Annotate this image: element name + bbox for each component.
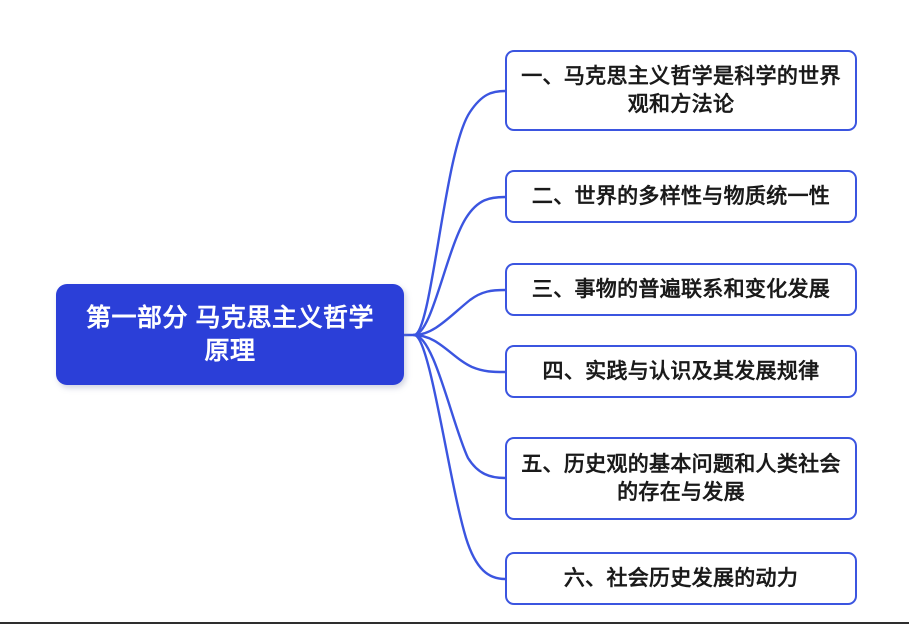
- connector-branch-2: [414, 197, 505, 335]
- mindmap-canvas: 第一部分 马克思主义哲学原理 一、马克思主义哲学是科学的世界观和方法论 二、世界…: [0, 0, 909, 630]
- child-node-6[interactable]: 六、社会历史发展的动力: [505, 552, 857, 605]
- child-node-4-label: 四、实践与认识及其发展规律: [529, 358, 834, 386]
- connector-branch-1: [414, 91, 505, 335]
- connector-branch-3: [414, 290, 505, 335]
- connector-branch-5: [414, 335, 505, 478]
- child-node-3[interactable]: 三、事物的普遍联系和变化发展: [505, 263, 857, 316]
- child-node-2[interactable]: 二、世界的多样性与物质统一性: [505, 170, 857, 223]
- child-node-5[interactable]: 五、历史观的基本问题和人类社会的存在与发展: [505, 437, 857, 520]
- child-node-4[interactable]: 四、实践与认识及其发展规律: [505, 345, 857, 398]
- child-node-1[interactable]: 一、马克思主义哲学是科学的世界观和方法论: [505, 50, 857, 131]
- child-node-6-label: 六、社会历史发展的动力: [550, 565, 812, 593]
- child-node-2-label: 二、世界的多样性与物质统一性: [518, 183, 844, 211]
- root-node-label: 第一部分 马克思主义哲学原理: [56, 302, 404, 368]
- child-node-5-label: 五、历史观的基本问题和人类社会的存在与发展: [507, 451, 855, 507]
- root-node[interactable]: 第一部分 马克思主义哲学原理: [56, 284, 404, 385]
- connector-branch-4: [414, 335, 505, 372]
- child-node-3-label: 三、事物的普遍联系和变化发展: [518, 276, 844, 304]
- child-node-1-label: 一、马克思主义哲学是科学的世界观和方法论: [507, 63, 855, 119]
- connector-branch-6: [414, 335, 505, 579]
- page-bottom-rule: [0, 622, 909, 624]
